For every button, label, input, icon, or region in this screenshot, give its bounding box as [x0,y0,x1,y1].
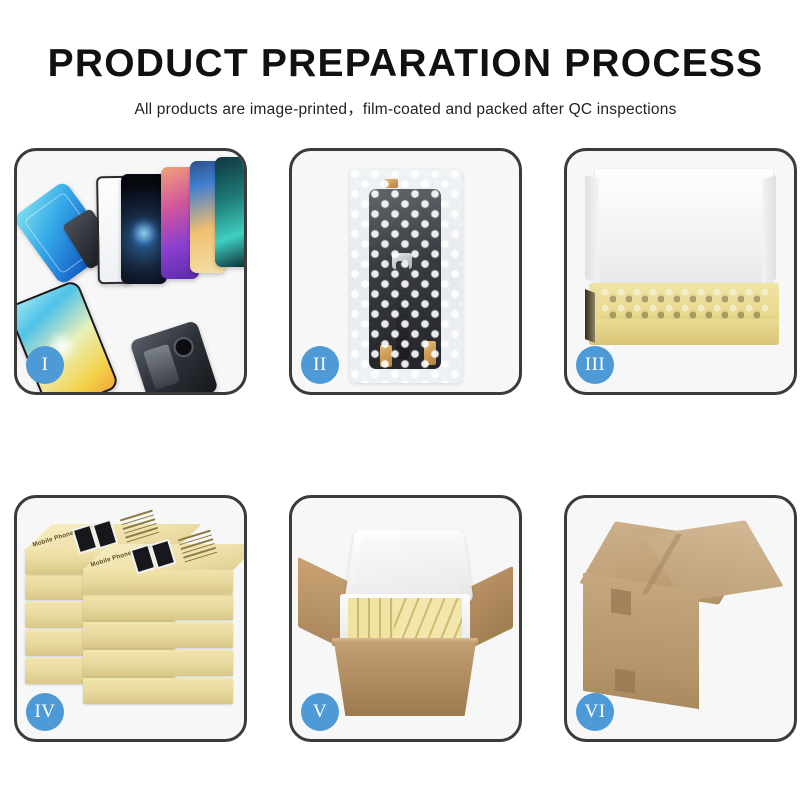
step-badge-5: V [301,693,339,731]
step-panel-6[interactable]: VI [564,495,797,742]
stack-box [83,622,233,648]
foam-lid [344,530,474,603]
yellow-boxes-inside-angled [394,598,462,642]
lid-fold-right [762,175,776,282]
steps-grid: I II [14,148,797,742]
page-subtitle: All products are image-printed，film-coat… [0,97,811,119]
carton-body [334,642,476,716]
step-badge-3: III [576,346,614,384]
step-badge-2: II [301,346,339,384]
step-panel-5[interactable]: V [289,495,522,742]
product-preparation-infographic: PRODUCT PREPARATION PROCESS All products… [0,0,811,811]
bubble-wrapped-contents [600,287,768,319]
step-badge-6: VI [576,693,614,731]
step-panel-1[interactable]: I [14,148,247,395]
bubble-texture [350,169,462,383]
tape-patch-upper-icon [611,588,631,615]
tape-patch-lower-icon [615,668,635,693]
white-box-lid [595,169,773,293]
yellow-box-side [585,289,595,343]
yellow-box-front [589,319,779,345]
stack-box [83,650,233,676]
step-panel-4[interactable]: Mobile Phone Spare Parts Mobil [14,495,247,742]
page-title: PRODUCT PREPARATION PROCESS [0,44,811,83]
header: PRODUCT PREPARATION PROCESS All products… [0,0,811,119]
carton-side-face [697,568,775,699]
notch-icon [136,177,152,181]
step-panel-2[interactable]: II [289,148,522,395]
step-panel-3[interactable]: III [564,148,797,395]
stack-box [83,678,233,704]
bubble-wrap-bag [350,169,462,383]
lid-fold-left [585,175,599,282]
opened-phone-back-icon [129,320,218,392]
stack-box [83,594,233,620]
step-badge-1: I [26,346,64,384]
stack-box-top-right [83,568,233,594]
step-badge-4: IV [26,693,64,731]
teal-phone-screen-icon [215,157,244,267]
